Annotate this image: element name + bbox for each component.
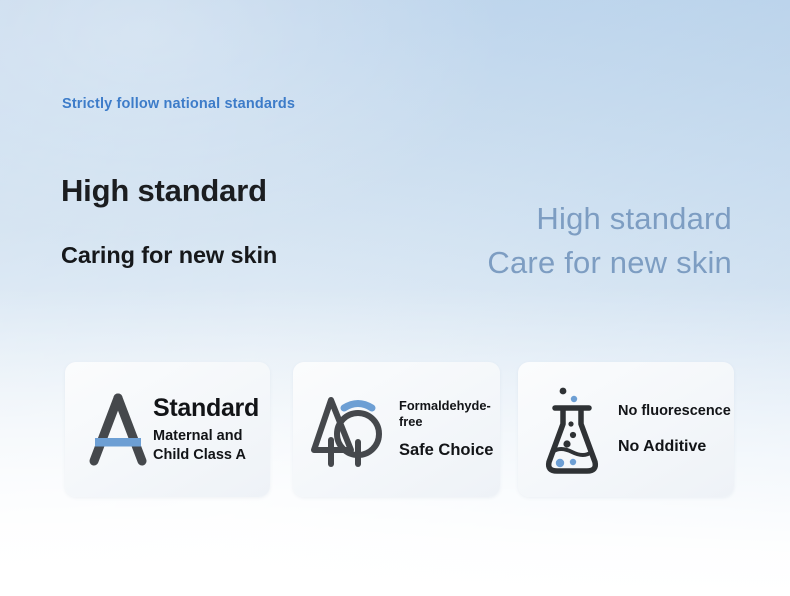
watermark-text: High standard Care for new skin xyxy=(487,197,732,285)
headline-primary: High standard xyxy=(61,173,267,209)
watermark-line-1: High standard xyxy=(487,197,732,241)
background-tint-right xyxy=(0,0,790,596)
background-fade-bottom xyxy=(0,0,790,596)
feature-card-formaldehyde-free[interactable] xyxy=(293,362,500,497)
feature-card-standard[interactable] xyxy=(65,362,270,497)
promo-banner: Strictly follow national standards High … xyxy=(0,0,790,596)
headline-secondary: Caring for new skin xyxy=(61,242,277,269)
watermark-line-2: Care for new skin xyxy=(487,241,732,285)
background-gradient xyxy=(0,0,790,596)
background-glow xyxy=(0,0,790,596)
feature-card-row: Standard Maternal and Child Class A Form… xyxy=(0,362,790,498)
feature-card-no-fluorescence[interactable] xyxy=(518,362,734,497)
eyebrow-text: Strictly follow national standards xyxy=(62,96,295,112)
